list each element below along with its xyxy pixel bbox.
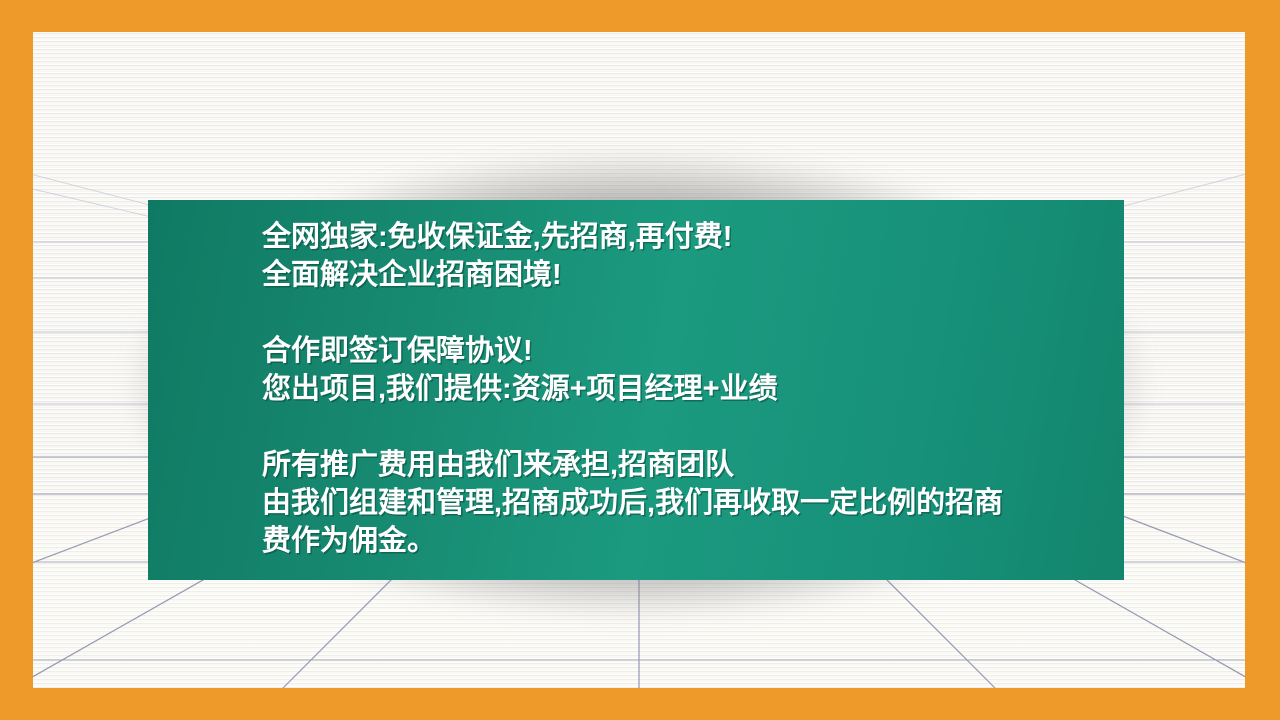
room-background: 全网独家:免收保证金,先招商,再付费! 全面解决企业招商困境! 合作即签订保障协…	[33, 32, 1245, 688]
slide-canvas: 全网独家:免收保证金,先招商,再付费! 全面解决企业招商困境! 合作即签订保障协…	[0, 0, 1280, 720]
message-line: 费作为佣金。	[262, 522, 1122, 560]
message-line-spacer	[262, 408, 1122, 446]
message-line-spacer	[262, 294, 1122, 332]
message-line: 全面解决企业招商困境!	[262, 256, 1122, 294]
message-line: 所有推广费用由我们来承担,招商团队	[262, 446, 1122, 484]
message-panel: 全网独家:免收保证金,先招商,再付费! 全面解决企业招商困境! 合作即签订保障协…	[148, 200, 1124, 580]
message-line: 由我们组建和管理,招商成功后,我们再收取一定比例的招商	[262, 484, 1122, 522]
message-line: 合作即签订保障协议!	[262, 332, 1122, 370]
message-line: 您出项目,我们提供:资源+项目经理+业绩	[262, 370, 1122, 408]
message-text-block: 全网独家:免收保证金,先招商,再付费! 全面解决企业招商困境! 合作即签订保障协…	[262, 218, 1122, 560]
message-line: 全网独家:免收保证金,先招商,再付费!	[262, 218, 1122, 256]
